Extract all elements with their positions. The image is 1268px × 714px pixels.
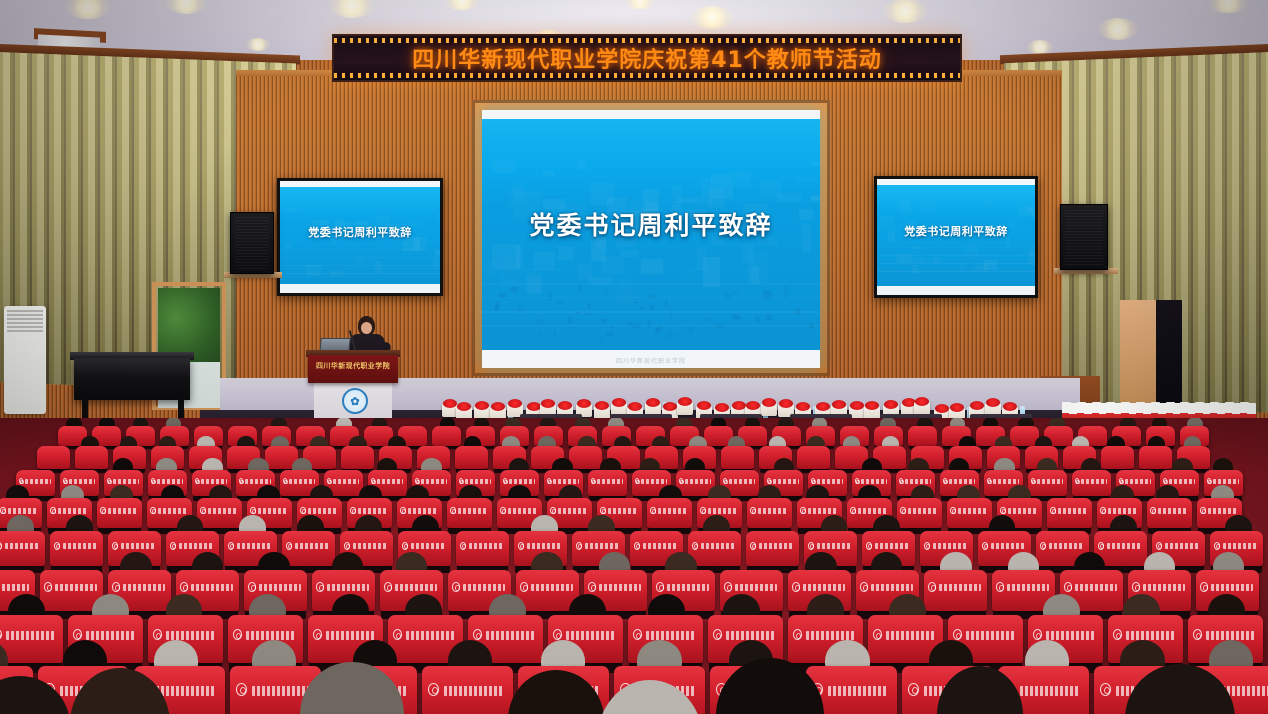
seat-logo-icon <box>635 478 640 485</box>
side-slide-building <box>375 261 383 273</box>
slide-building <box>734 171 751 187</box>
ac-grill <box>7 310 43 332</box>
slide-caption: 四川华新现代职业学院 <box>482 356 820 365</box>
gift-box <box>474 406 490 419</box>
speaker-face <box>361 322 372 334</box>
seat-logo-text <box>1206 631 1256 640</box>
seat-logo-text <box>421 479 447 484</box>
left-display: 党委书记周利平致辞 <box>277 178 443 296</box>
seat-logo-icon <box>591 478 596 485</box>
audience-seat <box>947 498 992 528</box>
seat-logo-text <box>25 479 51 484</box>
slide-building <box>678 197 699 202</box>
seat-logo-icon <box>236 683 247 696</box>
audience-seat <box>797 446 830 469</box>
main-led-screen: 党委书记周利平致辞 四川华新现代职业学院 <box>482 110 820 368</box>
seat-logo-icon <box>633 629 642 640</box>
slide-building <box>687 267 694 281</box>
seat-logo-icon <box>0 542 2 550</box>
side-slide-building <box>433 258 439 270</box>
left-slide-title: 党委书记周利平致辞 <box>280 224 440 240</box>
left-slide-bottom-band <box>280 284 440 293</box>
seat-logo-text <box>1081 479 1107 484</box>
seat-logo-text <box>463 584 505 591</box>
seat-logo-text <box>55 584 97 591</box>
seat-logo-text <box>966 631 1016 640</box>
audience-seat <box>282 531 335 566</box>
seat-logo-text <box>377 479 403 484</box>
seat-logo-icon <box>50 507 55 514</box>
seat-logo-text <box>1158 508 1188 513</box>
seat-logo-icon <box>808 542 814 550</box>
seat-logo-text <box>1143 584 1185 591</box>
seat-logo-icon <box>1163 478 1168 485</box>
seat-logo-text <box>157 479 183 484</box>
loudspeaker-right <box>1060 204 1108 270</box>
seat-logo-text <box>395 584 437 591</box>
right-display: 党委书记周利平致辞 <box>874 176 1038 298</box>
seat-logo-icon <box>656 582 664 592</box>
slide-tree <box>715 323 724 329</box>
audience-seat <box>456 531 509 566</box>
seat-logo-icon <box>700 507 705 514</box>
slide-tree <box>494 305 500 311</box>
seat-logo-icon <box>899 478 904 485</box>
seat-logo-text <box>353 543 388 549</box>
slide-building <box>529 272 540 295</box>
seat-logo-text <box>933 543 968 549</box>
seat-logo-text <box>121 543 156 549</box>
side-slide-road <box>877 271 1035 272</box>
seat-logo-text <box>179 543 214 549</box>
seat-logo-text <box>939 584 981 591</box>
seat-logo-icon <box>0 507 5 514</box>
seat-logo-icon <box>402 542 408 550</box>
slide-building <box>672 186 682 206</box>
seat-logo-icon <box>1031 478 1036 485</box>
seat-logo-icon <box>950 507 955 514</box>
seat-logo-text <box>701 543 736 549</box>
seat-logo-text <box>1058 508 1088 513</box>
seat-logo-icon <box>228 542 234 550</box>
slide-tree <box>687 325 695 334</box>
seat-logo-text <box>6 631 56 640</box>
seat-logo-icon <box>19 478 24 485</box>
seat-logo-text <box>113 479 139 484</box>
slide-building <box>796 176 817 182</box>
slide-tree <box>670 310 673 317</box>
seat-logo-icon <box>996 582 1004 592</box>
audience-seat <box>50 531 103 566</box>
seat-logo-icon <box>750 542 756 550</box>
led-event-banner: 四川华新现代职业学院庆祝第41个教师节活动 <box>332 34 962 82</box>
slide-tree <box>610 325 613 329</box>
seat-logo-text <box>1165 543 1200 549</box>
seat-logo-icon <box>550 507 555 514</box>
seat-logo-text <box>166 631 216 640</box>
seat-logo-text <box>69 479 95 484</box>
side-slide-building <box>436 213 440 222</box>
slide-tree <box>633 323 641 329</box>
seat-logo-text <box>1211 584 1253 591</box>
slide-tree <box>765 315 774 321</box>
seat-logo-icon <box>316 582 324 592</box>
slide-tree <box>763 290 772 299</box>
slide-tree <box>809 323 813 329</box>
seat-logo-icon <box>692 542 698 550</box>
slide-tree <box>704 317 710 322</box>
seat-logo-icon <box>350 507 355 514</box>
seat-logo-icon <box>100 507 105 514</box>
seat-logo-text <box>958 508 988 513</box>
seat-logo-text <box>406 631 456 640</box>
seat-logo-icon <box>452 582 460 592</box>
side-slide-building <box>984 260 997 270</box>
seat-logo-text <box>156 686 216 696</box>
seat-logo-text <box>191 584 233 591</box>
slide-tree <box>517 305 524 312</box>
audience-seat <box>447 498 492 528</box>
slide-tree <box>723 292 731 300</box>
side-slide-road <box>280 273 440 274</box>
seat-logo-text <box>1008 508 1038 513</box>
seat-logo-text <box>465 479 491 484</box>
slide-building <box>558 246 574 260</box>
seat-logo-text <box>5 543 40 549</box>
slide-tree <box>553 331 557 337</box>
slide-tree <box>656 325 662 333</box>
slide-building <box>589 277 612 286</box>
audience-seat <box>37 446 70 469</box>
slide-road <box>482 325 820 326</box>
loudspeaker-left <box>230 212 274 274</box>
slide-tree <box>647 320 651 328</box>
slide-building <box>513 183 523 195</box>
side-slide-building <box>306 265 322 276</box>
slide-tree <box>795 308 801 315</box>
seat-logo-icon <box>1040 542 1046 550</box>
seat-logo-icon <box>1064 582 1072 592</box>
seat-logo-icon <box>982 542 988 550</box>
seat-logo-text <box>658 508 688 513</box>
audience-seat <box>721 446 754 469</box>
seat-logo-text <box>1169 479 1195 484</box>
side-slide-building <box>357 257 365 265</box>
seat-logo-text <box>585 543 620 549</box>
seat-logo-icon <box>248 582 256 592</box>
side-slide-road <box>877 247 1035 248</box>
side-slide-road <box>280 249 440 250</box>
seat-logo-icon <box>500 507 505 514</box>
side-slide-building <box>920 200 936 214</box>
audience-seat <box>588 470 627 496</box>
slide-building <box>747 252 767 283</box>
seat-logo-text <box>806 631 856 640</box>
side-slide-building <box>350 243 356 247</box>
side-slide-building <box>912 265 918 273</box>
seat-logo-text <box>858 508 888 513</box>
seat-logo-text <box>1107 543 1142 549</box>
seat-logo-icon <box>1132 582 1140 592</box>
seat-logo-text <box>817 543 852 549</box>
slide-tree <box>498 293 506 298</box>
seat-logo-text <box>808 508 838 513</box>
audience-seat <box>422 666 513 714</box>
seat-logo-icon <box>1150 507 1155 514</box>
auditorium-scene: 四川华新现代职业学院庆祝第41个教师节活动 党委书记周利平致辞 四川华新现代职业… <box>0 0 1268 714</box>
downlight-7 <box>1098 18 1138 40</box>
audience-seat <box>647 498 692 528</box>
upright-piano <box>74 358 190 400</box>
slide-tree <box>648 295 656 299</box>
slide-title: 党委书记周利平致辞 <box>482 206 820 242</box>
audience-seat <box>569 446 602 469</box>
gift-box <box>761 403 777 416</box>
seat-logo-text <box>0 584 29 591</box>
seat-logo-icon <box>1075 478 1080 485</box>
seat-logo-icon <box>600 507 605 514</box>
seat-logo-text <box>1125 479 1151 484</box>
seat-logo-text <box>208 508 238 513</box>
seat-logo-text <box>258 508 288 513</box>
seat-logo-text <box>1007 584 1049 591</box>
slide-building <box>711 174 733 198</box>
right-slide-bottom-band <box>877 286 1035 295</box>
slide-tree <box>598 336 604 343</box>
slide-tree <box>585 313 592 317</box>
audience-seat <box>97 498 142 528</box>
seat-logo-icon <box>987 478 992 485</box>
seat-logo-icon <box>873 629 882 640</box>
seat-logo-icon <box>553 629 562 640</box>
podium-plaque: 四川华新现代职业学院 <box>308 355 398 383</box>
seat-logo-text <box>123 584 165 591</box>
seat-logo-text <box>726 631 776 640</box>
slide-tree <box>640 306 645 309</box>
seat-logo-text <box>566 631 616 640</box>
seat-logo-icon <box>200 507 205 514</box>
seat-logo-text <box>773 479 799 484</box>
seat-logo-text <box>289 479 315 484</box>
slide-building <box>492 244 520 268</box>
seat-logo-icon <box>767 478 772 485</box>
seat-logo-icon <box>300 507 305 514</box>
seat-logo-icon <box>855 478 860 485</box>
seat-logo-text <box>333 479 359 484</box>
seat-logo-icon <box>713 629 722 640</box>
seat-logo-text <box>486 631 536 640</box>
seat-logo-text <box>861 479 887 484</box>
seat-logo-icon <box>1000 507 1005 514</box>
seat-logo-icon <box>415 478 420 485</box>
seat-logo-icon <box>327 478 332 485</box>
audience-seat <box>1147 498 1192 528</box>
seat-logo-text <box>245 479 271 484</box>
seat-logo-text <box>599 584 641 591</box>
seat-logo-text <box>408 508 438 513</box>
seat-logo-text <box>458 508 488 513</box>
right-display-panel: 党委书记周利平致辞 <box>877 179 1035 295</box>
right-slide-title: 党委书记周利平致辞 <box>877 223 1035 239</box>
audience-seat <box>75 446 108 469</box>
slide-tree <box>510 286 518 293</box>
seat-logo-icon <box>344 542 350 550</box>
slide-building <box>618 278 633 306</box>
seat-logo-icon <box>473 629 482 640</box>
slide-tree <box>575 311 580 314</box>
seat-logo-icon <box>679 478 684 485</box>
seat-logo-icon <box>283 478 288 485</box>
seat-logo-icon <box>928 582 936 592</box>
audience-seat <box>0 615 63 663</box>
side-slide-building <box>985 199 992 203</box>
slide-tree <box>783 286 789 293</box>
seat-logo-icon <box>793 629 802 640</box>
seat-logo-text <box>758 508 788 513</box>
side-slide-building <box>285 208 298 212</box>
seat-logo-icon <box>811 478 816 485</box>
seat-logo-icon <box>153 629 162 640</box>
slide-tree <box>634 301 638 304</box>
left-display-panel: 党委书记周利平致辞 <box>280 181 440 293</box>
slide-top-band <box>482 110 820 119</box>
seat-logo-icon <box>384 582 392 592</box>
seat-logo-icon <box>503 478 508 485</box>
slide-building <box>543 171 556 176</box>
slide-tree <box>539 332 542 336</box>
audience-seat <box>924 570 987 611</box>
slide-building <box>492 161 516 173</box>
seat-logo-text <box>1126 631 1176 640</box>
seat-logo-text <box>237 543 272 549</box>
seat-logo-text <box>1049 543 1084 549</box>
audience-seat <box>197 498 242 528</box>
seat-logo-icon <box>943 478 948 485</box>
audience-seat <box>897 498 942 528</box>
seat-logo-text <box>1075 584 1117 591</box>
seat-logo-icon <box>588 582 596 592</box>
seat-logo-text <box>295 543 330 549</box>
seat-logo-icon <box>112 542 118 550</box>
seat-logo-icon <box>792 582 800 592</box>
slide-building <box>601 256 624 275</box>
seat-logo-icon <box>150 507 155 514</box>
side-slide-building <box>900 200 911 214</box>
seat-logo-text <box>246 631 296 640</box>
seat-logo-text <box>993 479 1019 484</box>
downlight-11 <box>1027 40 1053 54</box>
seat-logo-icon <box>313 629 322 640</box>
slide-tree <box>601 318 607 324</box>
right-door-opening <box>1156 300 1182 418</box>
audience-seating <box>0 418 1268 714</box>
air-conditioner <box>4 306 46 414</box>
seat-logo-icon <box>1033 629 1042 640</box>
seat-logo-text <box>1037 479 1063 484</box>
slide-building <box>641 259 663 274</box>
seat-logo-icon <box>800 507 805 514</box>
seat-logo-icon <box>1193 629 1202 640</box>
slide-tree <box>755 316 760 323</box>
slide-building <box>534 252 555 270</box>
seat-logo-text <box>735 584 777 591</box>
seat-logo-text <box>875 543 910 549</box>
seat-logo-icon <box>239 478 244 485</box>
seat-logo-icon <box>450 507 455 514</box>
side-slide-building <box>285 242 292 249</box>
podium-plaque-text: 四川华新现代职业学院 <box>308 361 398 371</box>
slide-tree <box>577 285 582 294</box>
seat-logo-text <box>327 584 369 591</box>
seat-logo-text <box>803 584 845 591</box>
audience-seat <box>746 531 799 566</box>
seat-logo-text <box>1208 508 1238 513</box>
audience-seat <box>1047 498 1092 528</box>
seat-logo-icon <box>1113 629 1122 640</box>
seat-logo-text <box>828 686 888 696</box>
seat-logo-text <box>508 508 538 513</box>
seat-logo-icon <box>900 507 905 514</box>
seat-logo-icon <box>1100 507 1105 514</box>
seat-logo-icon <box>151 478 156 485</box>
audience-seat <box>1101 446 1134 469</box>
seat-logo-icon <box>460 542 466 550</box>
seat-logo-text <box>667 584 709 591</box>
seat-logo-text <box>643 543 678 549</box>
seat-logo-icon <box>520 582 528 592</box>
audience-seat <box>432 426 461 446</box>
seat-logo-text <box>444 686 504 696</box>
side-slide-building <box>435 250 440 256</box>
side-slide-building <box>1027 208 1035 212</box>
seat-logo-icon <box>576 542 582 550</box>
seat-logo-icon <box>1200 507 1205 514</box>
side-slide-road <box>280 265 440 266</box>
side-slide-road <box>877 263 1035 264</box>
slide-tree <box>587 304 591 308</box>
seat-logo-icon <box>112 582 120 592</box>
seat-logo-text <box>58 508 88 513</box>
seat-logo-text <box>608 508 638 513</box>
seat-logo-text <box>531 584 573 591</box>
slide-tree <box>666 332 674 339</box>
seat-logo-icon <box>286 542 292 550</box>
slide-building <box>760 181 780 198</box>
seat-logo-text <box>108 508 138 513</box>
seat-logo-icon <box>866 542 872 550</box>
seat-logo-icon <box>63 478 68 485</box>
audience-seat <box>908 426 937 446</box>
audience-seat <box>747 498 792 528</box>
audience-seat <box>1139 446 1172 469</box>
seat-logo-icon <box>233 629 242 640</box>
audience-seat <box>455 446 488 469</box>
seat-logo-icon <box>428 683 439 696</box>
slide-tree <box>734 316 742 320</box>
slide-building <box>697 249 707 270</box>
seat-logo-text <box>1108 508 1138 513</box>
slide-road <box>482 311 820 313</box>
seat-logo-text <box>759 543 794 549</box>
slide-building <box>811 195 820 201</box>
seat-logo-icon <box>723 478 728 485</box>
seat-logo-icon <box>518 542 524 550</box>
seat-logo-icon <box>459 478 464 485</box>
slide-building <box>487 260 495 279</box>
seat-logo-icon <box>908 683 919 696</box>
slide-tree <box>556 301 564 305</box>
seat-logo-icon <box>0 629 2 640</box>
